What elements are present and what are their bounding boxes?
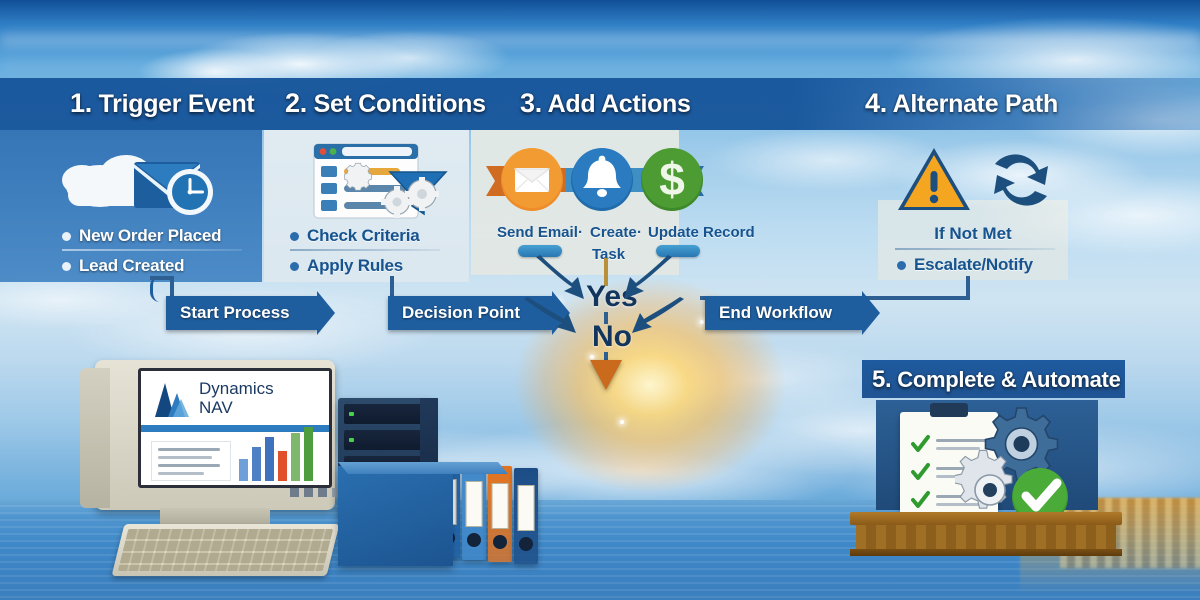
connector-step4-drop: [966, 276, 970, 298]
bullet-dot-icon: [62, 232, 71, 241]
binder-ring-icon: [493, 535, 507, 549]
binder: [462, 464, 486, 560]
screen-divider: [141, 425, 329, 432]
step-1-item-0: New Order Placed: [62, 226, 221, 246]
binder-label: [518, 485, 535, 531]
pedestal-top: [850, 512, 1122, 525]
screen-text-block: [151, 441, 231, 481]
infographic-canvas: 1. Trigger Event 2. Set Conditions 3. Ad…: [0, 0, 1200, 600]
chart-bar-3: [278, 451, 287, 481]
step-1-label: Trigger Event: [99, 90, 255, 118]
step-2-number: 2.: [285, 88, 307, 118]
check-icon: [910, 434, 930, 454]
step-1-item-0-label: New Order Placed: [79, 226, 221, 246]
binder: [488, 466, 512, 562]
server-led-icon: [349, 438, 354, 442]
dynamics-nav-mountain-logo: [151, 381, 191, 419]
step-4-heading: If Not Met: [878, 224, 1068, 244]
step-2-label: Set Conditions: [314, 90, 486, 118]
binder-box: [338, 466, 453, 566]
chart-bar-0: [239, 459, 248, 481]
server-led-icon: [349, 412, 354, 416]
step-2-item-1-label: Apply Rules: [307, 256, 403, 276]
step-4-number: 4.: [865, 88, 887, 118]
chart-bar-4: [291, 433, 300, 481]
banner-start-process[interactable]: Start Process: [166, 296, 318, 330]
server-bay: [344, 404, 422, 424]
pedestal-face: [856, 525, 1116, 551]
chart-bar-2: [265, 437, 274, 481]
monitor-screen: Dynamics NAV: [138, 368, 332, 488]
svg-text:$: $: [659, 153, 685, 205]
step-4-label: Alternate Path: [893, 90, 1058, 118]
banner-end-workflow[interactable]: End Workflow: [705, 296, 863, 330]
step-2-divider: [290, 249, 440, 251]
step-5-number: 5.: [872, 366, 891, 393]
binder-label: [492, 483, 509, 529]
step-4-item-0: Escalate/Notify: [897, 255, 1033, 275]
decision-converging-arrows: [520, 255, 700, 365]
bullet-dot-icon: [62, 262, 71, 271]
check-icon: [910, 490, 930, 510]
binder-box-top: [338, 462, 508, 474]
banner-end-workflow-label: End Workflow: [719, 303, 832, 323]
step-5-label: Complete & Automate: [897, 367, 1120, 392]
chart-bar-1: [252, 447, 261, 481]
step-2-item-0-label: Check Criteria: [307, 226, 419, 246]
step-1-item-1-label: Lead Created: [79, 256, 184, 276]
cloud-envelope-clock-icon: [60, 140, 240, 220]
step-5-title: 5. Complete & Automate: [872, 366, 1121, 394]
bullet-dot-icon: [897, 261, 906, 270]
bullet-dot-icon: [290, 232, 299, 241]
step-4-divider: [895, 248, 1055, 250]
keyboard[interactable]: [112, 524, 340, 576]
binder-ring-icon: [519, 537, 533, 551]
brand-line-1: Dynamics: [199, 379, 274, 398]
step-2-item-1: Apply Rules: [290, 256, 403, 276]
screen-bar-chart: [239, 437, 319, 481]
binder: [514, 468, 538, 564]
check-icon: [910, 462, 930, 482]
binder-label: [466, 481, 483, 527]
binder-ring-icon: [467, 533, 481, 547]
banner-start-process-label: Start Process: [180, 303, 290, 323]
step-3-item-1-label-a: Create: [590, 224, 637, 241]
step-3-label: Add Actions: [548, 90, 691, 118]
glow-spark: [620, 420, 624, 424]
step-1-divider: [62, 249, 242, 251]
step-2-item-0: Check Criteria: [290, 226, 419, 246]
clipboard-gears-check-icon: [955, 400, 1090, 530]
action-separator-1: ·: [578, 224, 583, 241]
glow-spark: [700, 320, 704, 324]
banner-decision-point-label: Decision Point: [402, 303, 520, 323]
step-3-item-2-label: Update Record: [648, 224, 755, 241]
monitor-buttons[interactable]: [290, 488, 341, 497]
chart-bar-5: [304, 427, 313, 481]
pedestal-base: [850, 549, 1122, 556]
step-4-title: 4. Alternate Path: [865, 88, 1058, 119]
envelope-bell-dollar-badges-icon: $: [482, 140, 732, 220]
step-1-title: 1. Trigger Event: [70, 88, 254, 119]
bullet-dot-icon: [290, 262, 299, 271]
step-1-number: 1.: [70, 88, 92, 118]
server-bay: [344, 430, 422, 450]
brand-line-2: NAV: [199, 398, 274, 417]
warning-refresh-icon: [890, 140, 1070, 220]
action-separator-2: ·: [637, 224, 642, 241]
monitor-side: [80, 368, 110, 508]
step-3-title: 3. Add Actions: [520, 88, 691, 119]
window-filter-gears-icon: [310, 140, 455, 225]
step-3-item-0-label: Send Email: [497, 224, 578, 241]
step-2-title: 2. Set Conditions: [285, 88, 486, 119]
step-3-number: 3.: [520, 88, 542, 118]
step-1-item-1: Lead Created: [62, 256, 184, 276]
step-4-item-0-label: Escalate/Notify: [914, 255, 1033, 275]
